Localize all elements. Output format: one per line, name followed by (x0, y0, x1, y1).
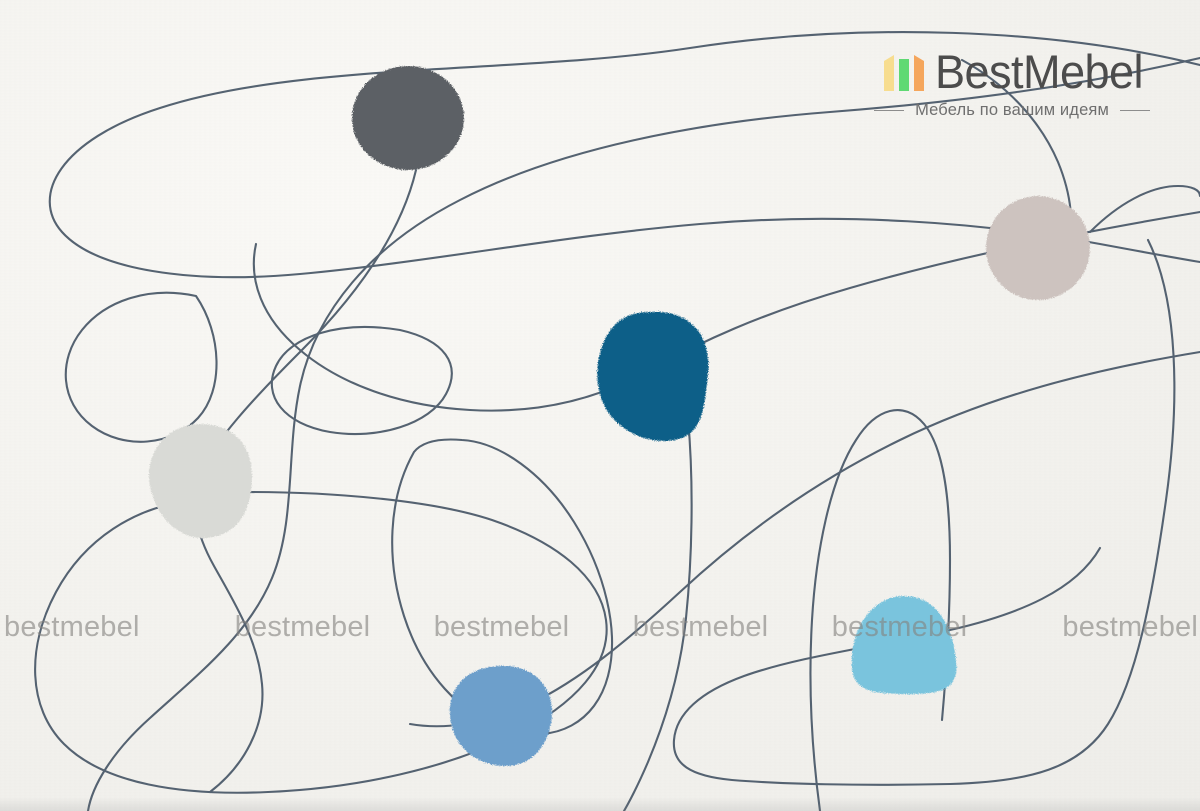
medium-blue-pebble (450, 666, 552, 766)
tagline-rule-left (874, 110, 904, 111)
logo-tagline: Мебель по вашим идеям (915, 101, 1109, 120)
brand-logo: BestMebel Мебель по вашим идеям (874, 48, 1152, 120)
bar-chart-logo-icon (882, 51, 926, 93)
light-gray-pebble (149, 424, 252, 538)
bar-cream-icon (884, 55, 894, 91)
logo-wordmark: BestMebel (935, 48, 1143, 95)
curve-center-oval (272, 327, 452, 434)
curve-taupe-arc (1090, 186, 1200, 232)
deep-teal-pebble (597, 312, 708, 441)
curve-teal-stem-down (624, 418, 692, 811)
curve-small-left-circle (66, 293, 217, 442)
tagline-rule-right (1120, 110, 1150, 111)
logo-top-row: BestMebel (882, 48, 1152, 95)
logo-tagline-row: Мебель по вашим идеям (874, 101, 1150, 120)
dark-gray-pebble (352, 66, 464, 170)
bottom-edge-shadow (0, 797, 1200, 811)
taupe-pebble (986, 196, 1090, 300)
bar-orange-icon (914, 55, 924, 91)
rug-artwork-image: bestmebel bestmebel bestmebel bestmebel … (0, 0, 1200, 811)
bar-green-icon (899, 59, 909, 91)
abstract-line-art (0, 0, 1200, 811)
sky-blue-pebble (852, 596, 957, 694)
